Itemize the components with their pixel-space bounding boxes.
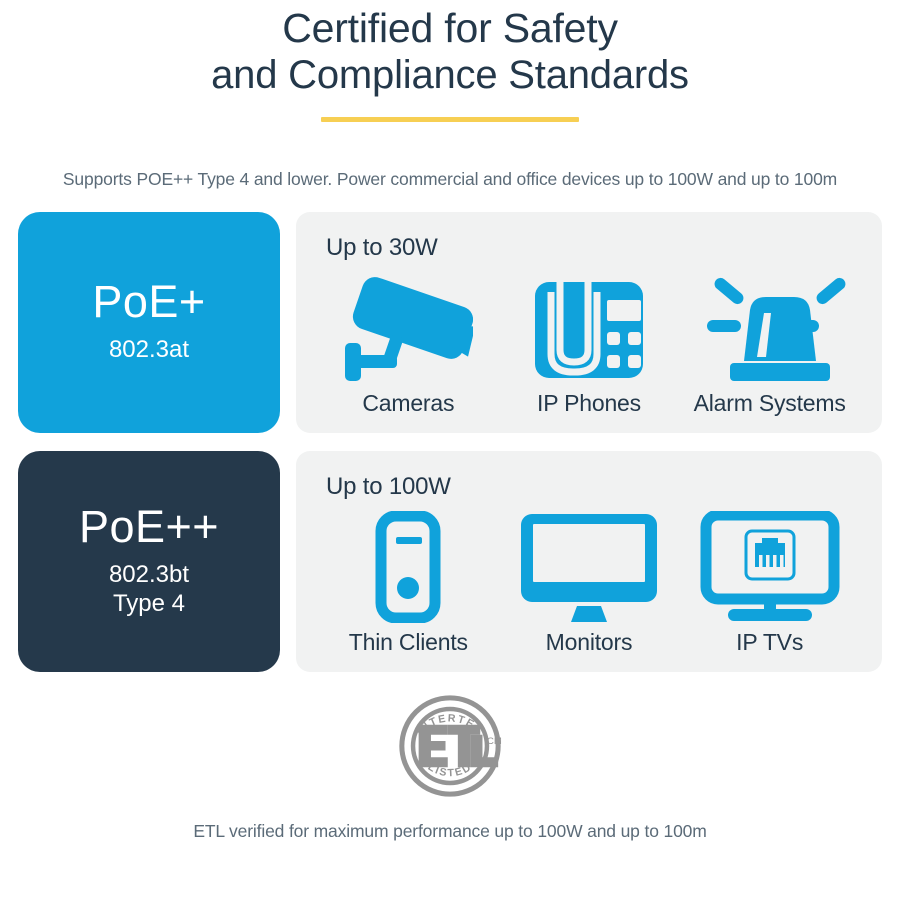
page-title-line-2: and Compliance Standards bbox=[0, 52, 900, 99]
poe-plusplus-badge: PoE++ 802.3bt Type 4 bbox=[18, 451, 280, 672]
device-item-label: IP TVs bbox=[736, 629, 803, 656]
alarm-siren-icon bbox=[694, 268, 846, 388]
device-item-label: Monitors bbox=[546, 629, 633, 656]
page-title-line-1: Certified for Safety bbox=[0, 4, 900, 52]
badge-title: PoE++ bbox=[79, 504, 219, 549]
footer-caption: ETL verified for maximum performance up … bbox=[0, 821, 900, 842]
device-item-label: Cameras bbox=[362, 390, 454, 417]
poe-plusplus-devices-panel: Up to 100W Thin Clients bbox=[296, 451, 882, 672]
ip-phone-icon bbox=[533, 268, 645, 388]
etl-intertek-listed-logo: CM INTERTEK LISTED bbox=[394, 690, 506, 807]
subtitle-text: Supports POE++ Type 4 and lower. Power c… bbox=[0, 169, 900, 190]
etl-superscript: CM bbox=[487, 735, 502, 746]
title-underline-rule bbox=[321, 117, 579, 122]
device-item-thin-clients: Thin Clients bbox=[319, 507, 498, 656]
poe-tier-row: PoE+ 802.3at Up to 30W bbox=[18, 212, 882, 433]
device-item-alarm-systems: Alarm Systems bbox=[680, 268, 859, 417]
panel-heading: Up to 30W bbox=[326, 234, 868, 262]
badge-standard: 802.3at bbox=[109, 335, 189, 364]
device-item-label: Alarm Systems bbox=[694, 390, 846, 417]
monitor-icon bbox=[519, 507, 659, 627]
ip-tv-icon bbox=[700, 507, 840, 627]
device-item-cameras: Cameras bbox=[319, 268, 498, 417]
poe-plus-devices-panel: Up to 30W bbox=[296, 212, 882, 433]
device-item-list: Cameras bbox=[310, 262, 868, 421]
device-item-label: Thin Clients bbox=[349, 629, 468, 656]
device-item-ip-phones: IP Phones bbox=[500, 268, 679, 417]
page-footer: CM INTERTEK LISTED ETL verified for maxi… bbox=[0, 690, 900, 842]
thin-client-icon bbox=[373, 507, 443, 627]
badge-type-line: Type 4 bbox=[109, 589, 189, 618]
device-item-label: IP Phones bbox=[537, 390, 641, 417]
poe-tier-row: PoE++ 802.3bt Type 4 Up to 100W bbox=[18, 451, 882, 672]
page-header: Certified for Safety and Compliance Stan… bbox=[0, 0, 900, 122]
poe-plus-badge: PoE+ 802.3at bbox=[18, 212, 280, 433]
badge-title: PoE+ bbox=[92, 279, 205, 324]
security-camera-icon bbox=[343, 268, 473, 388]
poe-tier-rows: PoE+ 802.3at Up to 30W bbox=[0, 212, 900, 672]
panel-heading: Up to 100W bbox=[326, 473, 868, 501]
badge-standard-line: 802.3bt bbox=[109, 560, 189, 589]
device-item-monitors: Monitors bbox=[500, 507, 679, 656]
device-item-list: Thin Clients Monitors bbox=[310, 501, 868, 660]
badge-standard: 802.3bt Type 4 bbox=[109, 560, 189, 619]
device-item-ip-tvs: IP TVs bbox=[680, 507, 859, 656]
